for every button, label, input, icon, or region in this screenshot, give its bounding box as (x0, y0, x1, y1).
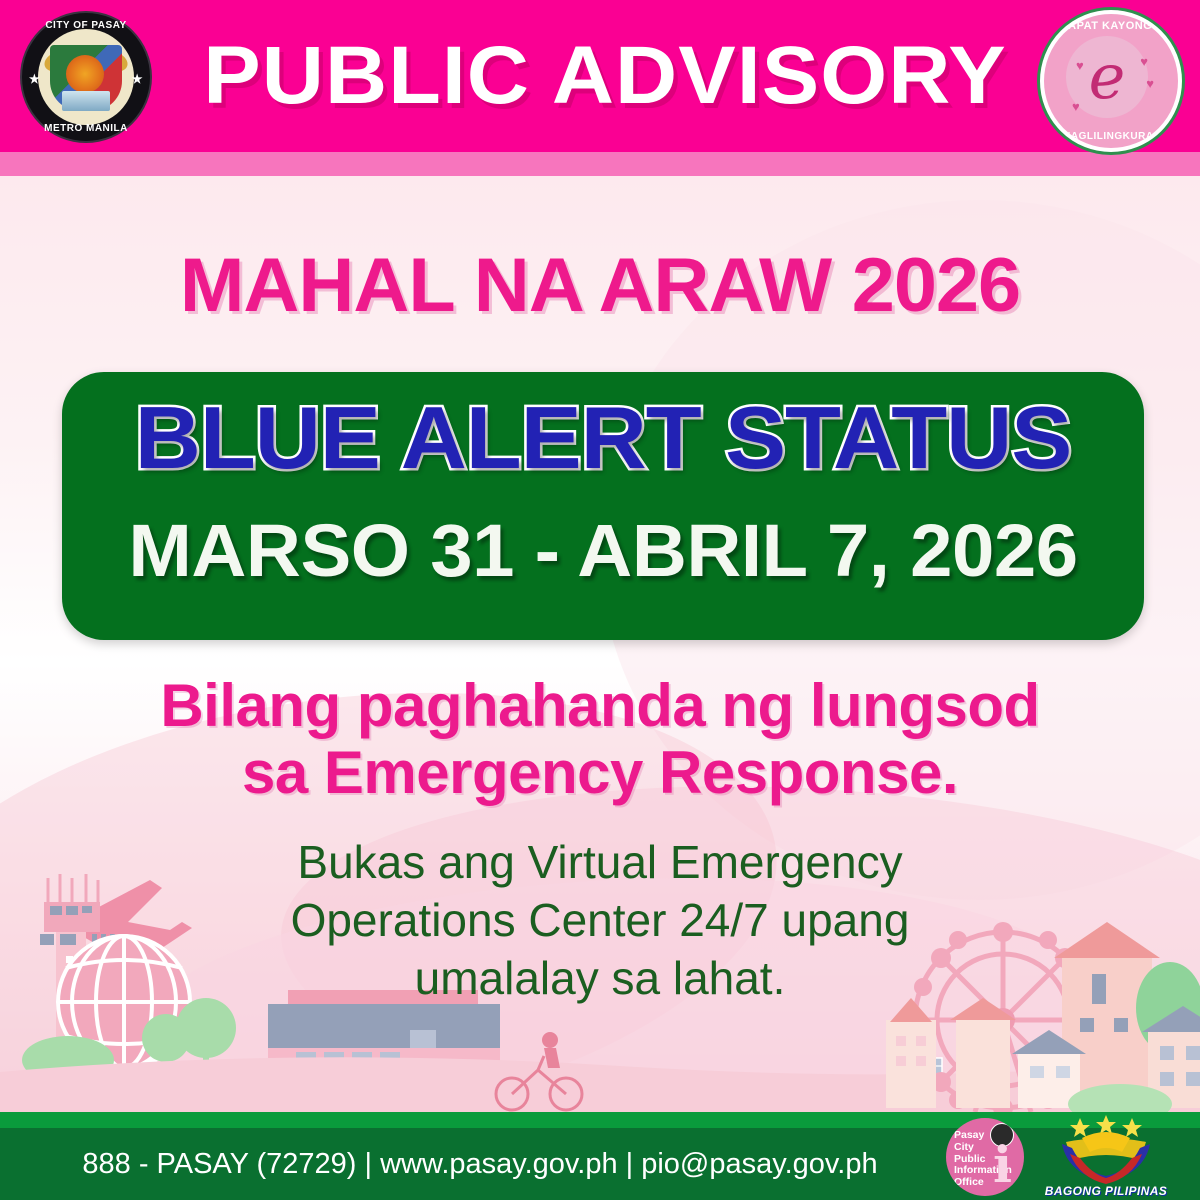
alert-status-box: BLUE ALERT STATUS MARSO 31 - ABRIL 7, 20… (62, 372, 1144, 640)
bagong-pilipinas-label: BAGONG PILIPINAS (1036, 1184, 1176, 1198)
bp-red-arc (1070, 1154, 1142, 1184)
subheadline-line-2: sa Emergency Response. (0, 739, 1200, 806)
body-text-line-2: Operations Center 24/7 upang (180, 892, 1020, 950)
pasay-city-seal-icon: CITY OF PASAY METRO MANILA ★ ★ (22, 13, 150, 141)
seal-top-label: CITY OF PASAY (22, 20, 150, 31)
body-text: Bukas ang Virtual Emergency Operations C… (180, 834, 1020, 1008)
heart-icon: ♥ (1076, 58, 1084, 73)
heart-icon: ♥ (1072, 99, 1080, 114)
heart-icon: ♥ (1140, 54, 1148, 69)
heart-icon: ♥ (1146, 76, 1154, 91)
body-text-line-3: umalalay sa lahat. (180, 950, 1020, 1008)
tapat-bottom-label: PINAGLILINGKURAN (1044, 131, 1170, 142)
footer-accent-bar (0, 1112, 1200, 1128)
footer-contact-info: 888 - PASAY (72729) | www.pasay.gov.ph |… (40, 1128, 920, 1200)
page-title: PUBLIC ADVISORY (148, 0, 1062, 152)
tapat-kayong-logo-icon: e TAPAT KAYONG PINAGLILINGKURAN ♥ ♥ ♥ ♥ (1040, 10, 1182, 152)
seal-star-right-icon: ★ (132, 72, 143, 86)
bagong-pilipinas-logo-icon: BAGONG PILIPINAS (1036, 1114, 1176, 1198)
seal-bottom-label: METRO MANILA (22, 123, 150, 134)
headline: MAHAL NA ARAW 2026 (0, 248, 1200, 324)
subheadline-line-1: Bilang paghahanda ng lungsod (0, 672, 1200, 739)
public-advisory-poster: PUBLIC ADVISORY CITY OF PASAY METRO MANI… (0, 0, 1200, 1200)
alert-status-label: BLUE ALERT STATUS (40, 394, 1165, 482)
pio-monogram: i (993, 1140, 1012, 1190)
subheadline: Bilang paghahanda ng lungsod sa Emergenc… (0, 672, 1200, 806)
alert-date-range: MARSO 31 - ABRIL 7, 2026 (46, 514, 1160, 588)
pio-logo-icon: Pasay City Public Information Office i (946, 1118, 1024, 1196)
body-text-line-1: Bukas ang Virtual Emergency (180, 834, 1020, 892)
tapat-top-label: TAPAT KAYONG (1044, 20, 1170, 32)
header-accent-stripe (0, 152, 1200, 176)
seal-star-left-icon: ★ (29, 72, 40, 86)
bp-sun (1066, 1138, 1146, 1160)
seal-ring-text: CITY OF PASAY METRO MANILA ★ ★ (22, 13, 150, 141)
